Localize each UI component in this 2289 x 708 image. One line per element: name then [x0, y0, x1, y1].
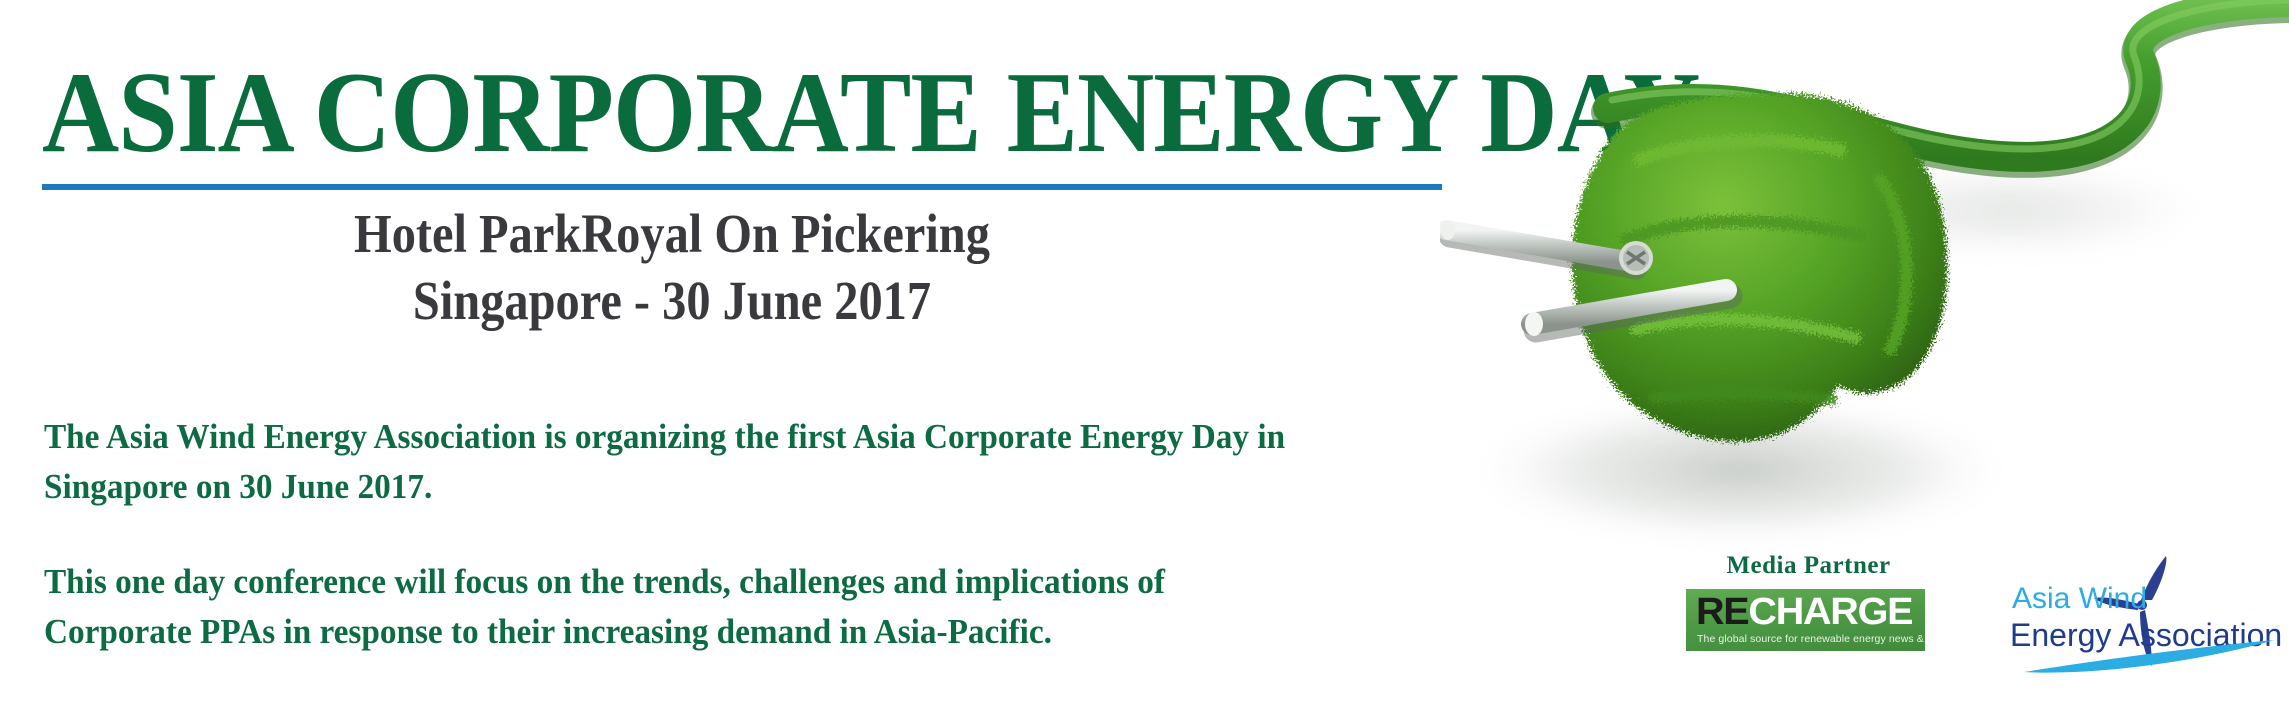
recharge-tagline: The global source for renewable energy n…	[1697, 633, 1925, 645]
event-banner: ASIA CORPORATE ENERGY DAY Hotel ParkRoya…	[0, 0, 2289, 708]
asia-wind-energy-association-logo[interactable]: Asia Wind Energy Association	[2006, 548, 2286, 678]
page-title: ASIA CORPORATE ENERGY DAY	[42, 55, 1700, 170]
recharge-logo[interactable]: RECHARGE The global source for renewable…	[1686, 589, 1925, 651]
awea-name-line-1: Asia Wind	[2012, 582, 2147, 615]
recharge-wordmark: RECHARGE	[1696, 593, 1912, 633]
event-location-date: Singapore - 30 June 2017	[118, 267, 1227, 334]
description-paragraph-2: This one day conference will focus on th…	[44, 557, 1308, 656]
description-paragraph-1: The Asia Wind Energy Association is orga…	[44, 412, 1308, 511]
title-divider	[42, 184, 1442, 190]
banner-text-column: ASIA CORPORATE ENERGY DAY Hotel ParkRoya…	[0, 0, 1480, 708]
event-venue-block: Hotel ParkRoyal On Pickering Singapore -…	[42, 200, 1302, 334]
event-venue: Hotel ParkRoyal On Pickering	[118, 200, 1227, 267]
recharge-word-charge: CHARGE	[1748, 591, 1912, 633]
event-description: The Asia Wind Energy Association is orga…	[44, 412, 1374, 657]
media-partner-label: Media Partner	[1686, 552, 1931, 580]
recharge-word-re: RE	[1696, 591, 1748, 633]
plug-prong-lower	[1525, 290, 1730, 336]
media-partner-block: Media Partner RECHARGE The global source…	[1686, 552, 1931, 651]
plug-screw	[1619, 241, 1653, 275]
